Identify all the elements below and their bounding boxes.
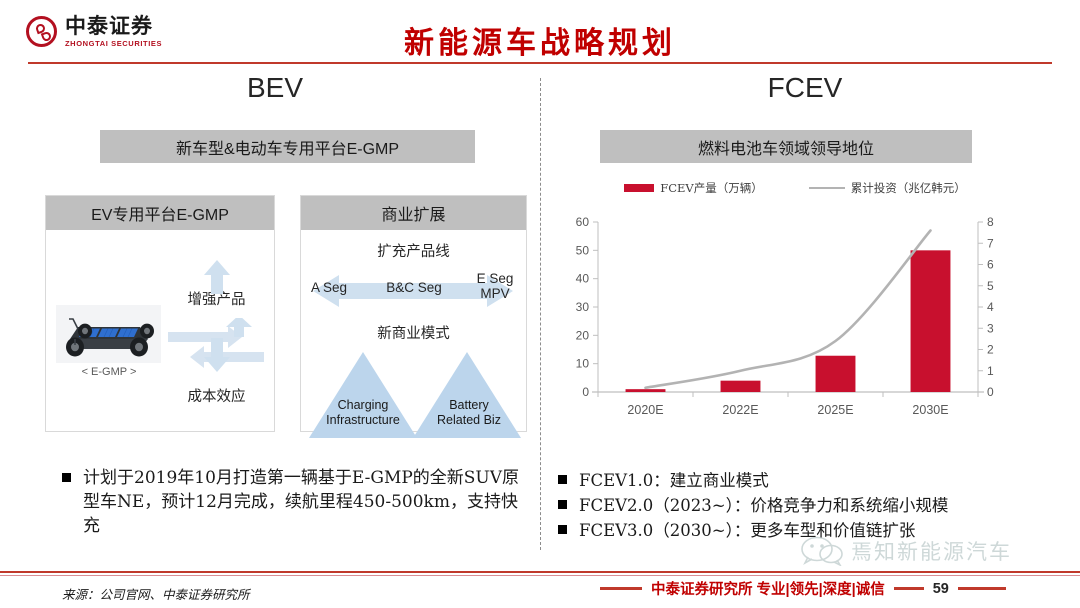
- chart-plot-area: 01020304050600123456782020E2022E2025E203…: [560, 216, 1030, 440]
- legend-bar-label: FCEV产量（万辆）: [660, 180, 762, 196]
- new-business-model-label: 新商业模式: [301, 322, 526, 343]
- cost-effect-label: 成本效应: [164, 385, 269, 406]
- triangle-pair-icon: [301, 350, 524, 442]
- battery-line2: Related Biz: [437, 413, 501, 427]
- legend-line-label: 累计投资（兆亿韩元）: [851, 180, 966, 196]
- svg-text:6: 6: [987, 258, 994, 272]
- footer-rule-top: [0, 571, 1080, 573]
- source-note: 来源：公司官网、中泰证券研究所: [62, 584, 250, 603]
- title-divider: [28, 62, 1052, 64]
- fcev-bullet-text-2: FCEV2.0（2023~）：价格竞争力和系统缩小规模: [579, 493, 948, 518]
- business-expansion-card: 商业扩展 扩充产品线 A Seg B&C Seg E Seg MPV 新商业模式: [300, 195, 527, 432]
- svg-text:2030E: 2030E: [912, 403, 948, 417]
- down-arrow-icon: [204, 338, 230, 372]
- bev-bullet-text: 计划于2019年10月打造第一辆基于E-GMP的全新SUV原型车NE，预计12月…: [83, 466, 532, 538]
- legend-item-bar: FCEV产量（万辆）: [624, 180, 762, 196]
- segment-e-line2: MPV: [480, 286, 509, 301]
- fcev-section-band: 燃料电池车领域领导地位: [600, 130, 972, 163]
- battery-line1: Battery: [449, 398, 489, 412]
- svg-text:30: 30: [576, 300, 590, 314]
- bullet-square-icon: [558, 475, 567, 484]
- column-divider: [540, 78, 541, 550]
- bullet-square-icon: [558, 525, 567, 534]
- svg-text:2: 2: [987, 343, 994, 357]
- list-item: 计划于2019年10月打造第一辆基于E-GMP的全新SUV原型车NE，预计12月…: [62, 466, 532, 538]
- svg-text:2025E: 2025E: [817, 403, 853, 417]
- charging-line1: Charging: [338, 398, 389, 412]
- svg-text:2022E: 2022E: [722, 403, 758, 417]
- svg-text:8: 8: [987, 216, 994, 229]
- business-expansion-card-body: 扩充产品线 A Seg B&C Seg E Seg MPV 新商业模式: [301, 230, 526, 431]
- bullet-square-icon: [558, 500, 567, 509]
- bullet-square-icon: [62, 473, 71, 482]
- wechat-watermark: 焉知新能源汽车: [800, 536, 1012, 566]
- fcev-column-heading: FCEV: [560, 72, 1050, 104]
- business-expansion-card-title: 商业扩展: [301, 196, 526, 230]
- footer-dash-left: [600, 587, 642, 590]
- up-arrow-icon: [204, 260, 230, 294]
- egmp-skateboard-platform-image: [56, 305, 161, 363]
- bev-section-band: 新车型&电动车专用平台E-GMP: [100, 130, 475, 163]
- legend-bar-swatch: [624, 184, 654, 192]
- page-title: 新能源车战略规划: [0, 18, 1080, 62]
- svg-text:0: 0: [987, 385, 994, 399]
- segment-e-line1: E Seg: [477, 271, 514, 286]
- watermark-text: 焉知新能源汽车: [851, 536, 1012, 566]
- footer-dash-right: [958, 587, 1006, 590]
- list-item: FCEV2.0（2023~）：价格竞争力和系统缩小规模: [558, 493, 1028, 518]
- svg-text:3: 3: [987, 321, 994, 335]
- egmp-platform-card-title: EV专用平台E-GMP: [46, 196, 274, 230]
- fcev-chart: FCEV产量（万辆） 累计投资（兆亿韩元） 010203040506001234…: [560, 180, 1030, 440]
- business-model-triangles: Charging Infrastructure Battery Related …: [301, 350, 526, 450]
- egmp-image-caption: < E-GMP >: [54, 366, 164, 378]
- battery-related-biz-label: Battery Related Biz: [417, 398, 521, 428]
- svg-text:7: 7: [987, 236, 994, 250]
- charging-infrastructure-label: Charging Infrastructure: [309, 398, 417, 428]
- legend-line-swatch: [809, 187, 845, 189]
- legend-item-line: 累计投资（兆亿韩元）: [809, 180, 966, 196]
- slide-root: 中泰证券 ZHONGTAI SECURITIES 新能源车战略规划 BEV FC…: [0, 0, 1080, 608]
- svg-text:2020E: 2020E: [627, 403, 663, 417]
- chart-legend: FCEV产量（万辆） 累计投资（兆亿韩元）: [560, 180, 1030, 196]
- list-item: FCEV1.0：建立商业模式: [558, 468, 1028, 493]
- fcev-bullet-text-1: FCEV1.0：建立商业模式: [579, 468, 769, 493]
- segment-bc-label: B&C Seg: [363, 280, 465, 295]
- bev-bullet-list: 计划于2019年10月打造第一辆基于E-GMP的全新SUV原型车NE，预计12月…: [62, 466, 532, 538]
- segment-arrow-group: A Seg B&C Seg E Seg MPV: [301, 266, 526, 316]
- egmp-platform-card: EV专用平台E-GMP 增强产品: [45, 195, 275, 432]
- footer-brand-text: 中泰证券研究所 专业|领先|深度|诚信: [651, 578, 885, 599]
- svg-text:1: 1: [987, 364, 994, 378]
- footer-rule-bottom: [0, 575, 1080, 576]
- svg-text:0: 0: [582, 385, 589, 399]
- svg-text:40: 40: [576, 272, 590, 286]
- svg-text:60: 60: [576, 216, 590, 229]
- segment-a-label: A Seg: [303, 280, 355, 295]
- wechat-icon: [800, 536, 844, 566]
- footer-dash-mid: [894, 587, 924, 590]
- svg-text:4: 4: [987, 300, 994, 314]
- charging-line2: Infrastructure: [326, 413, 400, 427]
- footer-brand-row: 中泰证券研究所 专业|领先|深度|诚信 59: [600, 578, 1080, 599]
- segment-e-mpv-label: E Seg MPV: [467, 271, 523, 301]
- fcev-bullet-list: FCEV1.0：建立商业模式 FCEV2.0（2023~）：价格竞争力和系统缩小…: [558, 468, 1028, 543]
- page-number: 59: [933, 581, 949, 597]
- egmp-platform-card-body: 增强产品: [46, 230, 274, 431]
- svg-text:20: 20: [576, 328, 590, 342]
- svg-text:5: 5: [987, 279, 994, 293]
- expand-product-line-label: 扩充产品线: [301, 240, 526, 261]
- bev-column-heading: BEV: [30, 72, 520, 104]
- svg-text:10: 10: [576, 357, 590, 371]
- svg-text:50: 50: [576, 243, 590, 257]
